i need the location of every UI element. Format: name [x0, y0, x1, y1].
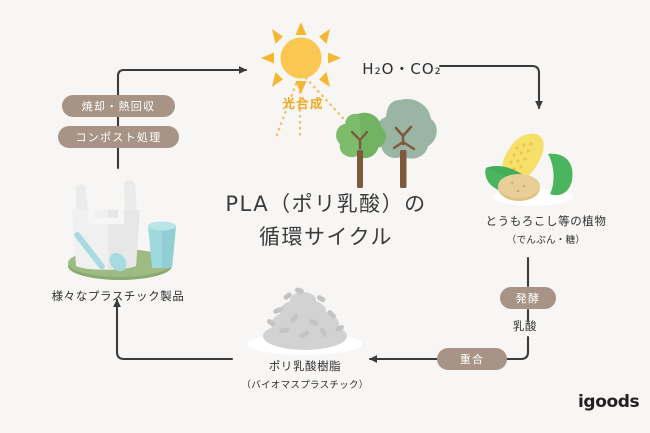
products-label: 様々なプラスチック製品: [18, 288, 218, 304]
gases-label: H₂O・CO₂: [337, 58, 467, 79]
lactic-acid-label: 乳酸: [495, 318, 555, 334]
arrow-resin-to-products: [117, 300, 232, 359]
resin-label: ポリ乳酸樹脂 （バイオマスプラスチック）: [212, 358, 398, 391]
pill-incineration[interactable]: 焼却・熱回収: [62, 95, 175, 117]
pellet-pile-icon: [243, 276, 367, 356]
plants-label: とうもろこし等の植物 （でんぷん・糖）: [458, 213, 634, 246]
pill-polymerization[interactable]: 重合: [437, 348, 507, 370]
igoods-logo: igoods: [578, 392, 639, 412]
arrow-lactic-to-polymerization: [507, 337, 528, 359]
corn-potato-icon: [480, 128, 586, 206]
trees-icon: [330, 92, 442, 194]
page-title: PLA（ポリ乳酸）の 循環サイクル: [196, 188, 456, 253]
sun-icon: [258, 22, 344, 94]
pill-compost[interactable]: コンポスト処理: [58, 126, 179, 148]
plastic-products-icon: [52, 170, 188, 282]
pill-fermentation[interactable]: 発酵: [500, 287, 556, 309]
diagram-canvas: 光合成 H₂O・CO₂: [0, 0, 650, 433]
